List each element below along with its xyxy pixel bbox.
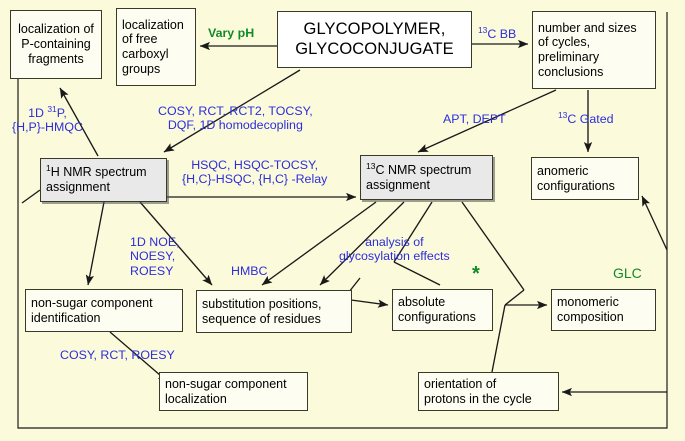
label-hmbc: HMBC [231,264,267,278]
label-line: HSQC, HSQC-TOCSY, [182,158,327,172]
node-line: configurations [537,179,633,194]
node-line: groups [122,62,190,77]
edge-c-abs-lower [394,262,440,285]
node-line: anomeric [537,164,633,179]
node-line: assignment [366,178,487,193]
node-anomeric-configurations[interactable]: anomeric configurations [531,157,639,200]
label-line: DQF, 1D homodecopling [158,118,313,132]
label-glc: GLC [613,265,642,281]
node-line: substitution positions, [202,297,346,312]
label-apt-dept: APT, DEPT [443,112,506,126]
superscript-13: 13 [478,25,487,35]
node-line: composition [557,310,650,325]
node-line: sequence of residues [202,312,346,327]
label-line: 1D NOE, [130,235,180,249]
node-line: carboxyl [122,47,190,62]
node-line: localization of [18,22,94,37]
label-cosy-rct-roesy: COSY, RCT, ROESY [60,348,175,362]
node-line: P-containing [21,37,91,52]
node-line: configurations [398,310,487,325]
node-free-carboxyl-groups[interactable]: localization of free carboxyl groups [116,8,196,86]
node-line: GLYCOCONJUGATE [295,40,453,59]
superscript-13: 13 [558,110,567,120]
node-monomeric-composition[interactable]: monomeric composition [551,289,656,331]
superscript-31: 31 [47,104,56,114]
node-line: 13C NMR spectrum [366,163,487,178]
node-orientation-of-protons[interactable]: orientation of protons in the cycle [418,372,559,411]
label-line: {H,P}-HMQC [12,120,83,134]
node-line: absolute [398,295,487,310]
node-line: non-sugar component [31,296,177,311]
node-line: assignment [46,180,161,195]
node-non-sugar-component-identification[interactable]: non-sugar component identification [25,289,183,332]
node-line: localization [122,18,190,33]
label-noe-noesy-roesy: 1D NOE, NOESY, ROESY [130,235,180,278]
label-1d-31p-hmqc: 1D 31P, {H,P}-HMQC [12,106,83,135]
node-line: number and sizes [538,21,650,36]
edge-h-nonsugar [88,202,104,285]
node-line: monomeric [557,295,650,310]
edge-mono-down [492,305,505,372]
node-line: GLYCOPOLYMER, [304,20,446,39]
label-line: analysis of [339,235,450,249]
diagram-canvas: localization of P-containing fragments l… [0,0,685,441]
node-cycles-preliminary-conclusions[interactable]: number and sizes of cycles, preliminary … [532,11,656,89]
edge-right-anomeric [642,196,667,250]
edge-sub-abs [351,300,388,305]
node-substitution-positions[interactable]: substitution positions, sequence of resi… [196,290,352,333]
label-line: {H,C}-HSQC, {H,C} -Relay [182,172,327,186]
label-line: COSY, RCT, RCT2, TOCSY, [158,104,313,118]
node-line: localization [165,392,302,407]
label-c13-bb: 13C BB [478,27,516,41]
label-line: ROESY [130,264,180,278]
node-line: preliminary [538,50,650,65]
label-line: glycosylation effects [339,249,450,263]
label-asterisk: * [472,263,480,286]
label-line: 1D 31P, [12,106,83,120]
node-line: of cycles, [538,35,650,50]
node-line: orientation of [424,377,553,392]
edge-mono-up [505,290,524,305]
label-glycosylation-effects: analysis of glycosylation effects [339,235,450,264]
label-hsqc-family: HSQC, HSQC-TOCSY, {H,C}-HSQC, {H,C} -Rel… [182,158,327,187]
node-line: non-sugar component [165,377,302,392]
node-c-nmr-spectrum-assignment[interactable]: 13C NMR spectrum assignment [360,155,493,200]
node-line: conclusions [538,65,650,80]
node-p-containing-fragments[interactable]: localization of P-containing fragments [10,10,102,79]
node-line: 1H NMR spectrum [46,165,161,180]
node-line: fragments [28,52,84,67]
node-h-nmr-spectrum-assignment[interactable]: 1H NMR spectrum assignment [40,158,167,202]
label-c13-gated: 13C Gated [558,112,614,126]
edge-h-left-hook [22,190,40,203]
node-absolute-configurations[interactable]: absolute configurations [392,289,493,331]
node-line: identification [31,311,177,326]
node-non-sugar-component-localization[interactable]: non-sugar component localization [159,372,308,411]
node-line: protons in the cycle [424,392,553,407]
label-vary-ph: Vary pH [208,26,254,40]
label-cosy-rct-tocsy: COSY, RCT, RCT2, TOCSY, DQF, 1D homodeco… [158,104,313,133]
node-glycopolymer-glycoconjugate[interactable]: GLYCOPOLYMER, GLYCOCONJUGATE [277,11,472,68]
node-line: of free [122,32,190,47]
label-line: NOESY, [130,249,180,263]
